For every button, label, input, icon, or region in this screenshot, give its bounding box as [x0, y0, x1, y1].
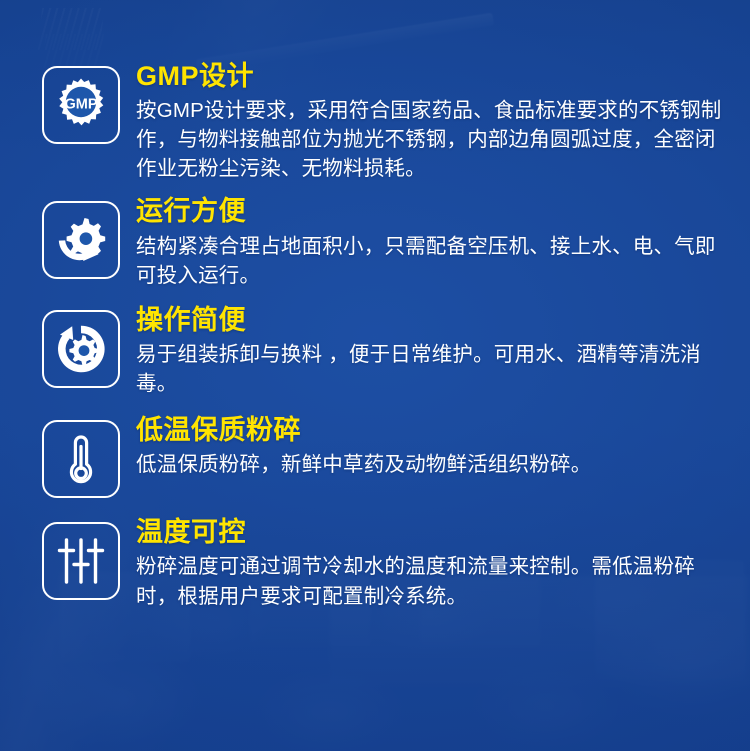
feature-title: 运行方便	[136, 197, 732, 226]
feature-description: 结构紧凑合理占地面积小，只需配备空压机、接上水、电、气即可投入运行。	[136, 232, 732, 290]
feature-item-simple-maintenance: 操作简便 易于组装拆卸与换料 ，便于日常维护。可用水、酒精等清洗消毒。	[0, 306, 750, 398]
feature-title: 操作简便	[136, 306, 732, 335]
gear-with-arrow-icon	[42, 201, 120, 279]
feature-text-block: GMP设计 按GMP设计要求，采用符合国家药品、食品标准要求的不锈钢制作，与物料…	[136, 62, 732, 183]
feature-description: 粉碎温度可通过调节冷却水的温度和流量来控制。需低温粉碎时，根据用户要求可配置制冷…	[136, 552, 732, 610]
thermometer-icon	[42, 420, 120, 498]
feature-text-block: 操作简便 易于组装拆卸与换料 ，便于日常维护。可用水、酒精等清洗消毒。	[136, 306, 732, 398]
feature-title: 温度可控	[136, 518, 732, 547]
feature-text-block: 温度可控 粉碎温度可通过调节冷却水的温度和流量来控制。需低温粉碎时，根据用户要求…	[136, 518, 732, 610]
feature-title: 低温保质粉碎	[136, 416, 732, 445]
feature-description: 易于组装拆卸与换料 ，便于日常维护。可用水、酒精等清洗消毒。	[136, 340, 732, 398]
feature-item-gmp-design: GMP GMP设计 按GMP设计要求，采用符合国家药品、食品标准要求的不锈钢制作…	[0, 62, 750, 183]
feature-text-block: 运行方便 结构紧凑合理占地面积小，只需配备空压机、接上水、电、气即可投入运行。	[136, 197, 732, 289]
feature-item-temperature-control: 温度可控 粉碎温度可通过调节冷却水的温度和流量来控制。需低温粉碎时，根据用户要求…	[0, 518, 750, 610]
feature-text-block: 低温保质粉碎 低温保质粉碎，新鲜中草药及动物鲜活组织粉碎。	[136, 416, 732, 479]
feature-list: GMP GMP设计 按GMP设计要求，采用符合国家药品、食品标准要求的不锈钢制作…	[0, 0, 750, 611]
svg-text:GMP: GMP	[64, 96, 97, 112]
feature-description: 按GMP设计要求，采用符合国家药品、食品标准要求的不锈钢制作，与物料接触部位为抛…	[136, 96, 732, 183]
sliders-icon	[42, 522, 120, 600]
feature-poster: GMP GMP设计 按GMP设计要求，采用符合国家药品、食品标准要求的不锈钢制作…	[0, 0, 750, 751]
feature-description: 低温保质粉碎，新鲜中草药及动物鲜活组织粉碎。	[136, 450, 732, 479]
feature-title: GMP设计	[136, 62, 732, 91]
gear-in-circular-arrow-icon	[42, 310, 120, 388]
gmp-cog-seal-icon: GMP	[42, 66, 120, 144]
feature-item-easy-operation: 运行方便 结构紧凑合理占地面积小，只需配备空压机、接上水、电、气即可投入运行。	[0, 197, 750, 289]
feature-item-low-temp-grinding: 低温保质粉碎 低温保质粉碎，新鲜中草药及动物鲜活组织粉碎。	[0, 416, 750, 498]
